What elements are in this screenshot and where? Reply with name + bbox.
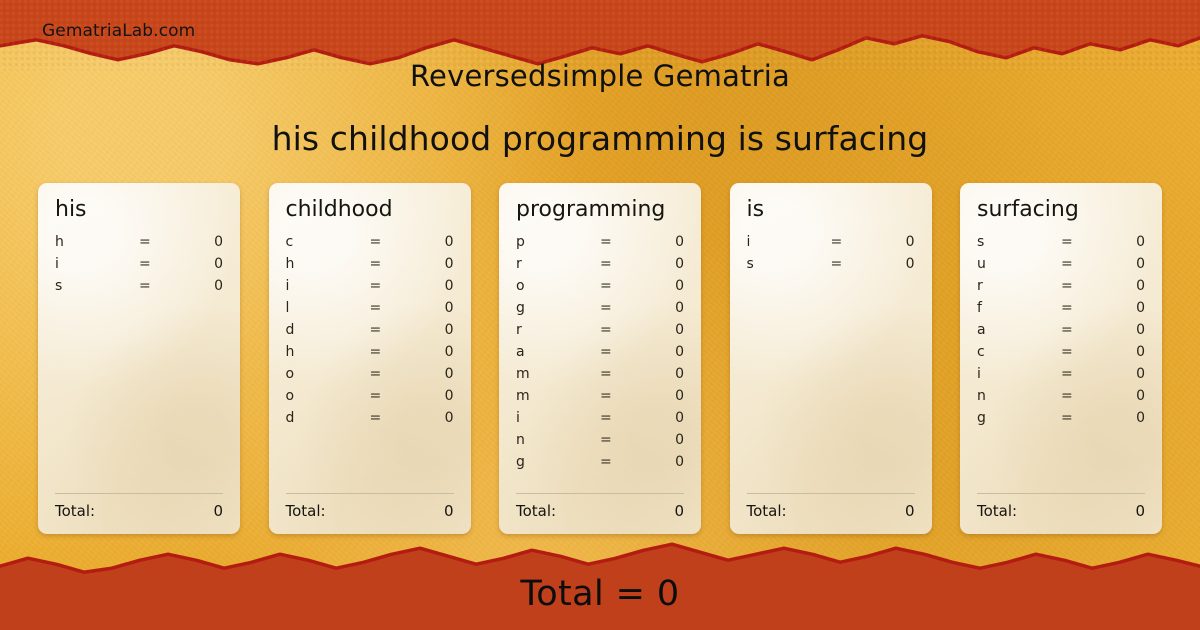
letter-value: 0	[396, 388, 454, 404]
card-total-label: Total:	[55, 502, 213, 520]
equals-sign: =	[370, 234, 396, 250]
card-total-value: 0	[905, 502, 915, 520]
letter-row: i=0	[977, 366, 1145, 388]
letter-row: g=0	[516, 454, 684, 476]
letter-label: h	[55, 234, 139, 250]
equals-sign: =	[1061, 344, 1087, 360]
letter-label: a	[977, 322, 1061, 338]
letter-row-list: s=0u=0r=0f=0a=0c=0i=0n=0g=0	[977, 234, 1145, 493]
letter-label: h	[286, 344, 370, 360]
equals-sign: =	[600, 432, 626, 448]
letter-value: 0	[396, 366, 454, 382]
equals-sign: =	[370, 322, 396, 338]
equals-sign: =	[139, 234, 165, 250]
equals-sign: =	[600, 388, 626, 404]
card-divider	[286, 493, 454, 494]
letter-row: a=0	[516, 344, 684, 366]
letter-value: 0	[626, 300, 684, 316]
letter-label: r	[516, 322, 600, 338]
card-total-row: Total:0	[516, 502, 684, 522]
letter-value: 0	[626, 432, 684, 448]
equals-sign: =	[1061, 300, 1087, 316]
card-divider	[516, 493, 684, 494]
word-card-title: his	[55, 197, 223, 222]
equals-sign: =	[1061, 278, 1087, 294]
letter-value: 0	[165, 256, 223, 272]
equals-sign: =	[600, 454, 626, 470]
letter-label: l	[286, 300, 370, 316]
card-divider	[747, 493, 915, 494]
letter-value: 0	[626, 256, 684, 272]
letter-label: o	[516, 278, 600, 294]
card-total-row: Total:0	[55, 502, 223, 522]
letter-value: 0	[1087, 322, 1145, 338]
card-total-row: Total:0	[747, 502, 915, 522]
letter-label: u	[977, 256, 1061, 272]
letter-row: g=0	[516, 300, 684, 322]
card-divider	[55, 493, 223, 494]
page-canvas: GematriaLab.com Reversedsimple Gematria …	[0, 0, 1200, 630]
letter-value: 0	[396, 410, 454, 426]
letter-label: m	[516, 366, 600, 382]
letter-row: m=0	[516, 366, 684, 388]
letter-value: 0	[857, 256, 915, 272]
letter-row-list: c=0h=0i=0l=0d=0h=0o=0o=0d=0	[286, 234, 454, 493]
letter-value: 0	[626, 454, 684, 470]
letter-row: i=0	[286, 278, 454, 300]
letter-value: 0	[626, 366, 684, 382]
letter-value: 0	[1087, 388, 1145, 404]
equals-sign: =	[1061, 234, 1087, 250]
letter-value: 0	[165, 234, 223, 250]
word-card: programmingp=0r=0o=0g=0r=0a=0m=0m=0i=0n=…	[499, 183, 701, 534]
letter-row: r=0	[977, 278, 1145, 300]
letter-row: c=0	[286, 234, 454, 256]
page-title: Reversedsimple Gematria	[0, 59, 1200, 93]
letter-value: 0	[396, 278, 454, 294]
letter-label: f	[977, 300, 1061, 316]
letter-label: r	[977, 278, 1061, 294]
letter-row: f=0	[977, 300, 1145, 322]
equals-sign: =	[370, 344, 396, 360]
letter-label: s	[747, 256, 831, 272]
letter-row: s=0	[977, 234, 1145, 256]
word-card-title: programming	[516, 197, 684, 222]
equals-sign: =	[370, 388, 396, 404]
letter-label: c	[977, 344, 1061, 360]
letter-label: n	[977, 388, 1061, 404]
letter-row: i=0	[516, 410, 684, 432]
letter-value: 0	[396, 322, 454, 338]
letter-label: o	[286, 388, 370, 404]
card-total-value: 0	[444, 502, 454, 520]
letter-row-list: i=0s=0	[747, 234, 915, 493]
letter-label: g	[977, 410, 1061, 426]
letter-value: 0	[857, 234, 915, 250]
letter-row: p=0	[516, 234, 684, 256]
letter-row: r=0	[516, 256, 684, 278]
equals-sign: =	[600, 300, 626, 316]
letter-value: 0	[1087, 410, 1145, 426]
card-total-label: Total:	[516, 502, 674, 520]
letter-row: u=0	[977, 256, 1145, 278]
letter-label: a	[516, 344, 600, 360]
letter-value: 0	[1087, 300, 1145, 316]
letter-row: o=0	[516, 278, 684, 300]
letter-row: i=0	[55, 256, 223, 278]
letter-label: i	[286, 278, 370, 294]
equals-sign: =	[1061, 366, 1087, 382]
letter-row: h=0	[55, 234, 223, 256]
word-card-title: surfacing	[977, 197, 1145, 222]
letter-row: n=0	[516, 432, 684, 454]
site-logo[interactable]: GematriaLab.com	[42, 21, 195, 41]
equals-sign: =	[600, 366, 626, 382]
letter-label: d	[286, 410, 370, 426]
card-divider	[977, 493, 1145, 494]
equals-sign: =	[831, 256, 857, 272]
letter-value: 0	[1087, 344, 1145, 360]
letter-label: s	[55, 278, 139, 294]
word-card: isi=0s=0Total:0	[730, 183, 932, 534]
phrase-heading: his childhood programming is surfacing	[0, 119, 1200, 158]
equals-sign: =	[139, 278, 165, 294]
letter-label: i	[516, 410, 600, 426]
letter-label: p	[516, 234, 600, 250]
letter-row: s=0	[747, 256, 915, 278]
word-card-title: childhood	[286, 197, 454, 222]
letter-value: 0	[626, 388, 684, 404]
letter-value: 0	[1087, 278, 1145, 294]
equals-sign: =	[600, 256, 626, 272]
word-card: surfacings=0u=0r=0f=0a=0c=0i=0n=0g=0Tota…	[960, 183, 1162, 534]
letter-label: i	[977, 366, 1061, 382]
letter-row-list: h=0i=0s=0	[55, 234, 223, 493]
card-total-label: Total:	[977, 502, 1135, 520]
letter-label: g	[516, 454, 600, 470]
equals-sign: =	[139, 256, 165, 272]
letter-value: 0	[626, 410, 684, 426]
letter-row: o=0	[286, 388, 454, 410]
equals-sign: =	[1061, 410, 1087, 426]
card-total-value: 0	[674, 502, 684, 520]
letter-row: d=0	[286, 410, 454, 432]
letter-value: 0	[396, 300, 454, 316]
letter-value: 0	[396, 256, 454, 272]
letter-row: r=0	[516, 322, 684, 344]
letter-value: 0	[626, 278, 684, 294]
grand-total: Total = 0	[0, 574, 1200, 614]
equals-sign: =	[600, 322, 626, 338]
equals-sign: =	[370, 278, 396, 294]
equals-sign: =	[600, 278, 626, 294]
equals-sign: =	[600, 410, 626, 426]
equals-sign: =	[370, 300, 396, 316]
letter-value: 0	[626, 322, 684, 338]
letter-row: s=0	[55, 278, 223, 300]
letter-label: c	[286, 234, 370, 250]
card-total-value: 0	[213, 502, 223, 520]
letter-row: h=0	[286, 256, 454, 278]
letter-row: d=0	[286, 322, 454, 344]
letter-row: i=0	[747, 234, 915, 256]
letter-label: o	[286, 366, 370, 382]
letter-row: h=0	[286, 344, 454, 366]
equals-sign: =	[370, 410, 396, 426]
equals-sign: =	[1061, 256, 1087, 272]
letter-value: 0	[626, 234, 684, 250]
card-total-value: 0	[1135, 502, 1145, 520]
letter-value: 0	[165, 278, 223, 294]
equals-sign: =	[1061, 388, 1087, 404]
letter-row: l=0	[286, 300, 454, 322]
letter-value: 0	[396, 234, 454, 250]
letter-row-list: p=0r=0o=0g=0r=0a=0m=0m=0i=0n=0g=0	[516, 234, 684, 493]
letter-value: 0	[1087, 234, 1145, 250]
letter-value: 0	[1087, 366, 1145, 382]
letter-row: m=0	[516, 388, 684, 410]
letter-label: g	[516, 300, 600, 316]
letter-label: s	[977, 234, 1061, 250]
card-total-label: Total:	[286, 502, 444, 520]
letter-row: c=0	[977, 344, 1145, 366]
letter-row: a=0	[977, 322, 1145, 344]
letter-row: g=0	[977, 410, 1145, 432]
equals-sign: =	[600, 344, 626, 360]
word-card-list: hish=0i=0s=0Total:0childhoodc=0h=0i=0l=0…	[38, 183, 1162, 534]
word-card: hish=0i=0s=0Total:0	[38, 183, 240, 534]
card-total-row: Total:0	[977, 502, 1145, 522]
letter-value: 0	[396, 344, 454, 360]
equals-sign: =	[370, 366, 396, 382]
equals-sign: =	[370, 256, 396, 272]
letter-label: m	[516, 388, 600, 404]
letter-label: i	[747, 234, 831, 250]
equals-sign: =	[831, 234, 857, 250]
letter-row: o=0	[286, 366, 454, 388]
letter-value: 0	[1087, 256, 1145, 272]
letter-label: n	[516, 432, 600, 448]
equals-sign: =	[600, 234, 626, 250]
word-card: childhoodc=0h=0i=0l=0d=0h=0o=0o=0d=0Tota…	[269, 183, 471, 534]
letter-value: 0	[626, 344, 684, 360]
letter-label: d	[286, 322, 370, 338]
equals-sign: =	[1061, 322, 1087, 338]
word-card-title: is	[747, 197, 915, 222]
card-total-label: Total:	[747, 502, 905, 520]
letter-label: i	[55, 256, 139, 272]
letter-label: h	[286, 256, 370, 272]
card-total-row: Total:0	[286, 502, 454, 522]
letter-row: n=0	[977, 388, 1145, 410]
letter-label: r	[516, 256, 600, 272]
